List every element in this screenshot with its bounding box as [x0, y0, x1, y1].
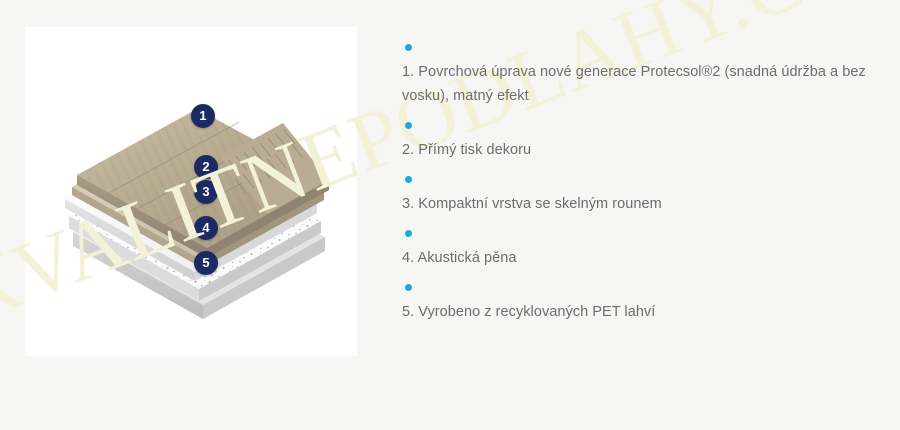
- list-item: 3. Kompaktní vrstva se skelným rounem: [402, 176, 872, 216]
- bullet-dot-icon: [405, 44, 412, 51]
- flooring-layer-diagram: 1 2 3 4 5: [25, 27, 357, 356]
- list-item: 4. Akustická pěna: [402, 230, 872, 270]
- bullet-dot-icon: [405, 122, 412, 129]
- layer-badge-5[interactable]: 5: [194, 251, 218, 275]
- feature-text: 4. Akustická pěna: [402, 246, 872, 270]
- list-item: 1. Povrchová úprava nové generace Protec…: [402, 44, 872, 108]
- bullet-dot-icon: [405, 284, 412, 291]
- layer-badge-1[interactable]: 1: [191, 104, 215, 128]
- list-item: 5. Vyrobeno z recyklovaných PET lahví: [402, 284, 872, 324]
- page-root: 1 2 3 4 5 KVALITNEPODLAHY.CZ 1. Povrchov…: [0, 0, 900, 430]
- bullet-dot-icon: [405, 230, 412, 237]
- feature-text: 1. Povrchová úprava nové generace Protec…: [402, 60, 872, 108]
- feature-list: 1. Povrchová úprava nové generace Protec…: [402, 44, 872, 324]
- layer-badge-2[interactable]: 2: [194, 155, 218, 179]
- feature-text: 3. Kompaktní vrstva se skelným rounem: [402, 192, 872, 216]
- layer-badge-4[interactable]: 4: [194, 216, 218, 240]
- list-item: 2. Přímý tisk dekoru: [402, 122, 872, 162]
- layer-cross-section-illustration: [25, 27, 357, 356]
- bullet-dot-icon: [405, 176, 412, 183]
- feature-text: 2. Přímý tisk dekoru: [402, 138, 872, 162]
- layer-badge-3[interactable]: 3: [194, 180, 218, 204]
- feature-text: 5. Vyrobeno z recyklovaných PET lahví: [402, 300, 872, 324]
- product-image-panel[interactable]: 1 2 3 4 5: [25, 27, 357, 356]
